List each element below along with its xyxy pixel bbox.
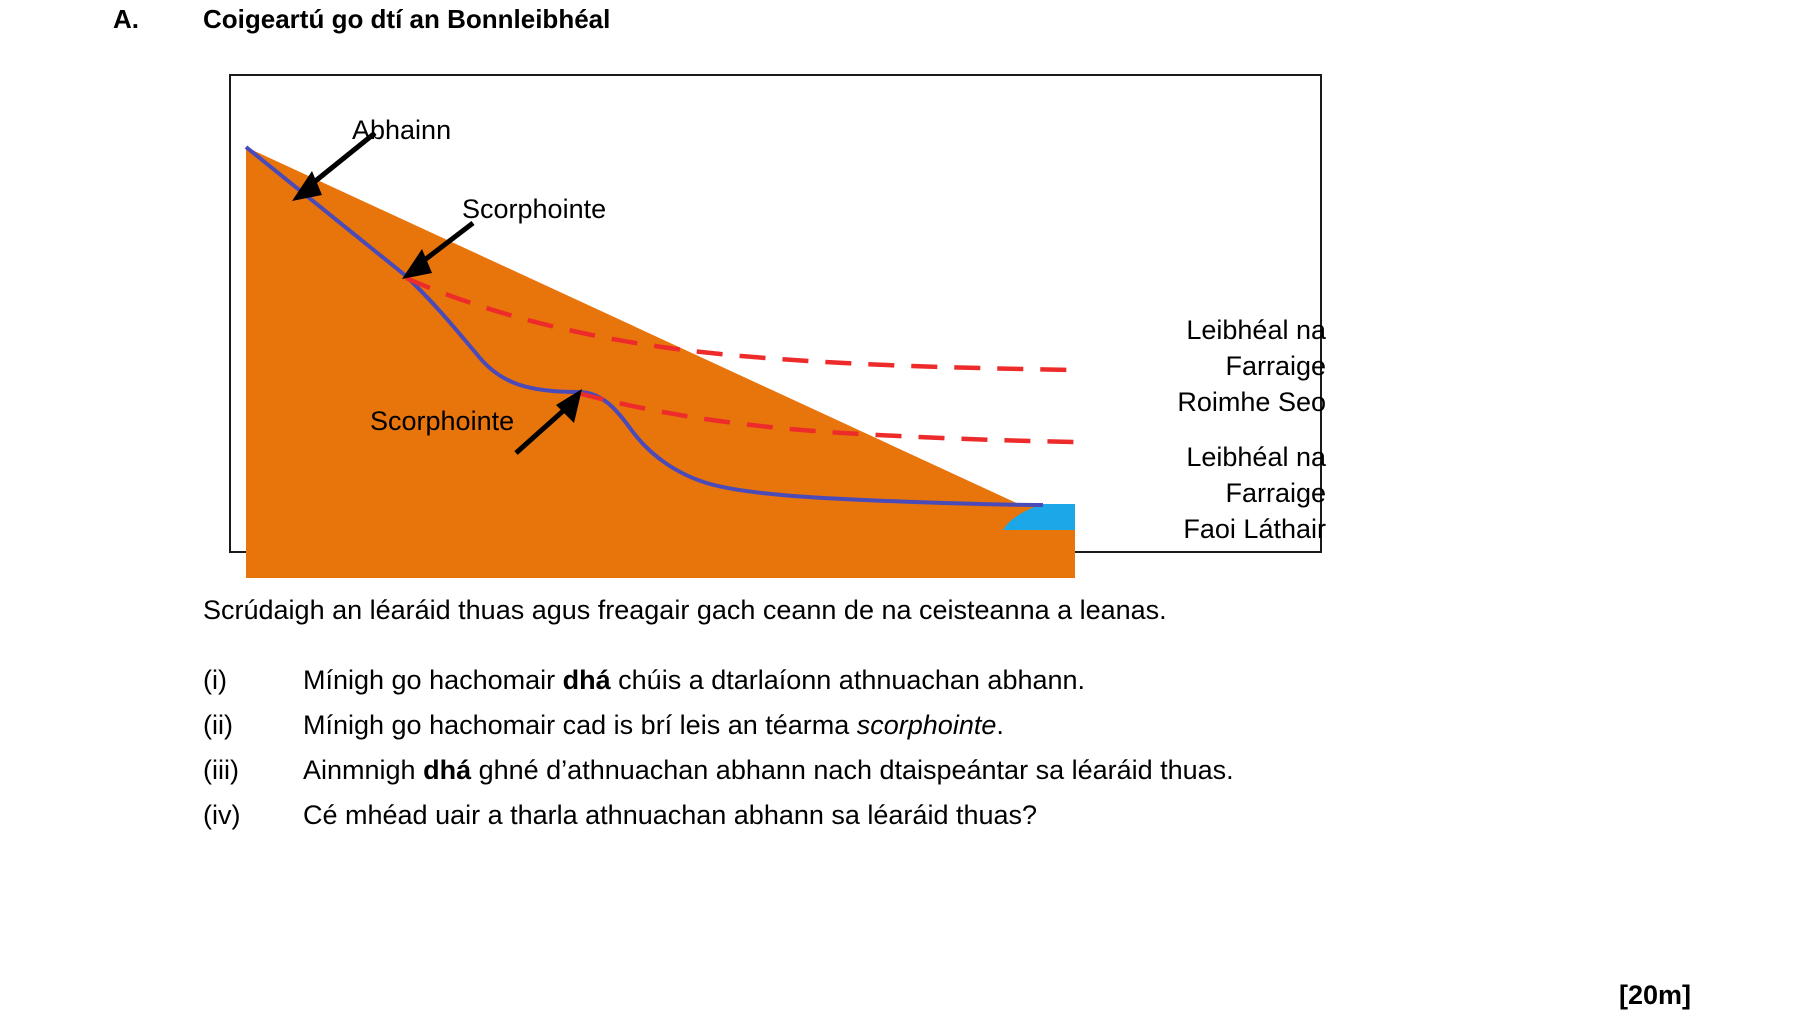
question-text-fragment: ghné d’athnuachan abhann nach dtaispeánt… xyxy=(471,755,1234,785)
label-current-sea-level: Leibhéal na Farraige Faoi Láthair xyxy=(1086,439,1326,547)
question-row: (ii)Mínigh go hachomair cad is brí leis … xyxy=(203,710,1603,755)
question-text-fragment: dhá xyxy=(423,755,471,785)
question-number: (iv) xyxy=(203,800,303,831)
land-bottom-band xyxy=(246,530,1075,578)
label-previous-sea-level-line1: Leibhéal na Farraige xyxy=(1086,312,1326,384)
question-text: Mínigh go hachomair cad is brí leis an t… xyxy=(303,710,1603,741)
question-text: Ainmnigh dhá ghné d’athnuachan abhann na… xyxy=(303,755,1603,786)
label-current-sea-level-line1: Leibhéal na Farraige xyxy=(1086,439,1326,511)
question-text-fragment: scorphointe xyxy=(857,710,997,740)
label-knickpoint-upper: Scorphointe xyxy=(462,191,606,227)
question-text-fragment: chúis a dtarlaíonn athnuachan abhann. xyxy=(611,665,1085,695)
question-text-fragment: Mínigh go hachomair cad is brí leis an t… xyxy=(303,710,857,740)
question-list: (i)Mínigh go hachomair dhá chúis a dtarl… xyxy=(203,665,1603,845)
label-current-sea-level-line2: Faoi Láthair xyxy=(1086,511,1326,547)
question-number: (i) xyxy=(203,665,303,696)
question-text-fragment: Cé mhéad uair a tharla athnuachan abhann… xyxy=(303,800,1037,830)
question-text-fragment: . xyxy=(996,710,1004,740)
label-previous-sea-level-line2: Roimhe Seo xyxy=(1086,384,1326,420)
question-letter: A. xyxy=(113,4,139,35)
question-number: (ii) xyxy=(203,710,303,741)
instruction-text: Scrúdaigh an léaráid thuas agus freagair… xyxy=(203,595,1167,626)
page-title: Coigeartú go dtí an Bonnleibhéal xyxy=(203,4,610,35)
question-row: (iv)Cé mhéad uair a tharla athnuachan ab… xyxy=(203,800,1603,845)
question-row: (iii)Ainmnigh dhá ghné d’athnuachan abha… xyxy=(203,755,1603,800)
marks-allocation: [20m] xyxy=(1619,980,1691,1011)
label-knickpoint-lower: Scorphointe xyxy=(370,403,514,439)
question-row: (i)Mínigh go hachomair dhá chúis a dtarl… xyxy=(203,665,1603,710)
label-river: Abhainn xyxy=(352,112,451,148)
river-rejuvenation-diagram: Abhainn Scorphointe Scorphointe Leibhéal… xyxy=(229,74,1322,553)
label-previous-sea-level: Leibhéal na Farraige Roimhe Seo xyxy=(1086,312,1326,420)
question-text-fragment: Mínigh go hachomair xyxy=(303,665,563,695)
question-text-fragment: Ainmnigh xyxy=(303,755,423,785)
question-text-fragment: dhá xyxy=(563,665,611,695)
question-text: Cé mhéad uair a tharla athnuachan abhann… xyxy=(303,800,1603,831)
question-number: (iii) xyxy=(203,755,303,786)
question-text: Mínigh go hachomair dhá chúis a dtarlaío… xyxy=(303,665,1603,696)
question-heading: A. Coigeartú go dtí an Bonnleibhéal xyxy=(0,0,1818,46)
